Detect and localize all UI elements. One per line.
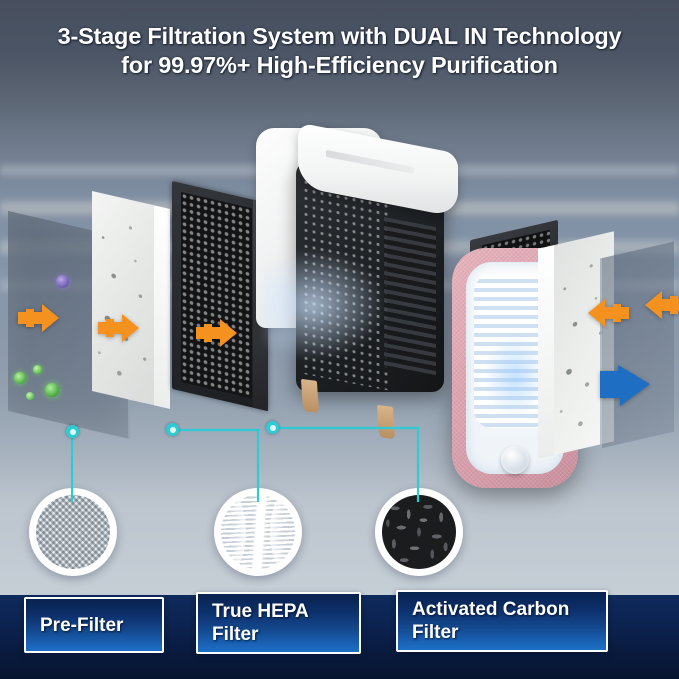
headline: 3-Stage Filtration System with DUAL IN T… (0, 22, 679, 80)
label-text-hepa-filter: True HEPA Filter (198, 600, 323, 646)
infographic-canvas: 3-Stage Filtration System with DUAL IN T… (0, 0, 679, 679)
headline-line-2: for 99.97%+ High-Efficiency Purification (0, 51, 679, 80)
headline-line-1: 3-Stage Filtration System with DUAL IN T… (0, 22, 679, 51)
label-box-carbon-filter[interactable]: Activated Carbon Filter (396, 590, 608, 652)
label-box-hepa-filter[interactable]: True HEPA Filter (196, 592, 361, 654)
label-text-pre-filter: Pre-Filter (26, 614, 137, 637)
label-box-pre-filter[interactable]: Pre-Filter (24, 597, 164, 653)
label-text-carbon-filter: Activated Carbon Filter (398, 598, 583, 644)
